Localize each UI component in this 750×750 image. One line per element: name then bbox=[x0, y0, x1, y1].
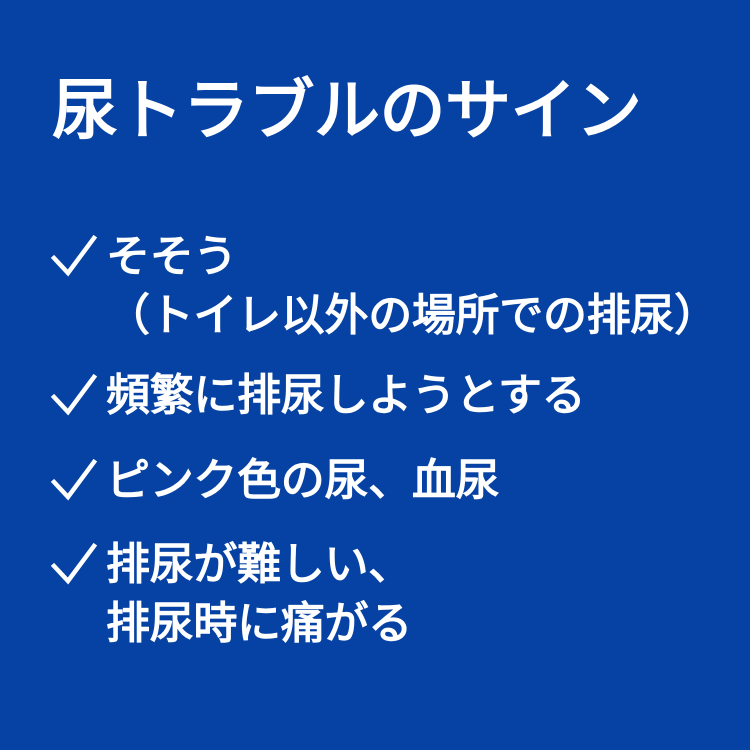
symptom-checklist: そそう （トイレ以外の場所での排尿） 頻繁に排尿しようとする bbox=[50, 228, 740, 653]
page-title: 尿トラブルのサイン bbox=[52, 72, 712, 150]
list-item-line: （トイレ以外の場所での排尿） bbox=[106, 287, 740, 346]
list-item: 排尿が難しい、 排尿時に痛がる bbox=[50, 536, 740, 653]
list-item-text: 頻繁に排尿しようとする bbox=[106, 367, 740, 426]
check-icon bbox=[50, 454, 98, 506]
list-item-line: 排尿が難しい、 bbox=[106, 536, 740, 595]
check-icon bbox=[50, 369, 98, 421]
list-item-text: 排尿が難しい、 排尿時に痛がる bbox=[106, 536, 740, 653]
check-icon bbox=[50, 538, 98, 590]
list-item-line: ピンク色の尿、血尿 bbox=[106, 452, 740, 511]
check-icon bbox=[50, 230, 98, 282]
list-item: そそう （トイレ以外の場所での排尿） bbox=[50, 228, 740, 345]
list-item-text: ピンク色の尿、血尿 bbox=[106, 452, 740, 511]
list-item: 頻繁に排尿しようとする bbox=[50, 367, 740, 426]
list-item-line: そそう bbox=[106, 228, 740, 287]
list-item-line: 頻繁に排尿しようとする bbox=[106, 367, 740, 426]
urinary-trouble-signs-poster: 尿トラブルのサイン そそう （トイレ以外の場所での排尿） 頻繁に排尿しようと bbox=[0, 0, 750, 750]
list-item-text: そそう （トイレ以外の場所での排尿） bbox=[106, 228, 740, 345]
list-item-line: 排尿時に痛がる bbox=[106, 595, 740, 654]
list-item: ピンク色の尿、血尿 bbox=[50, 452, 740, 511]
